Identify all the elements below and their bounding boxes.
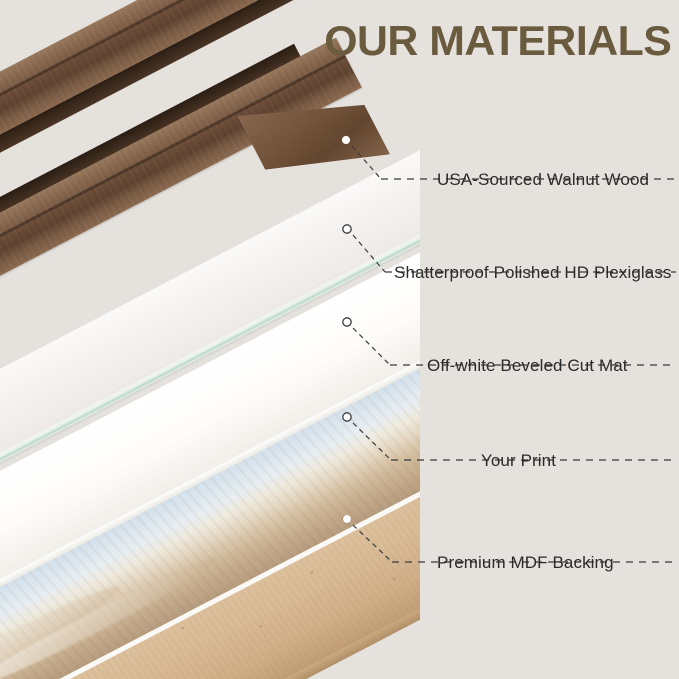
callout-label-walnut-wood: USA-Sourced Walnut Wood bbox=[437, 170, 649, 190]
callout-label-print: Your Print bbox=[481, 451, 556, 471]
materials-infographic: USA-Sourced Walnut Wood Shatterproof Pol… bbox=[0, 0, 679, 679]
callout-labels: USA-Sourced Walnut Wood Shatterproof Pol… bbox=[0, 0, 679, 679]
callout-label-mat: Off-white Beveled Cut Mat bbox=[427, 356, 628, 376]
callout-label-mdf-backing: Premium MDF Backing bbox=[437, 553, 614, 573]
page-title: OUR MATERIALS bbox=[324, 20, 671, 62]
callout-label-plexiglass: Shatterproof Polished HD Plexiglass bbox=[394, 263, 672, 283]
